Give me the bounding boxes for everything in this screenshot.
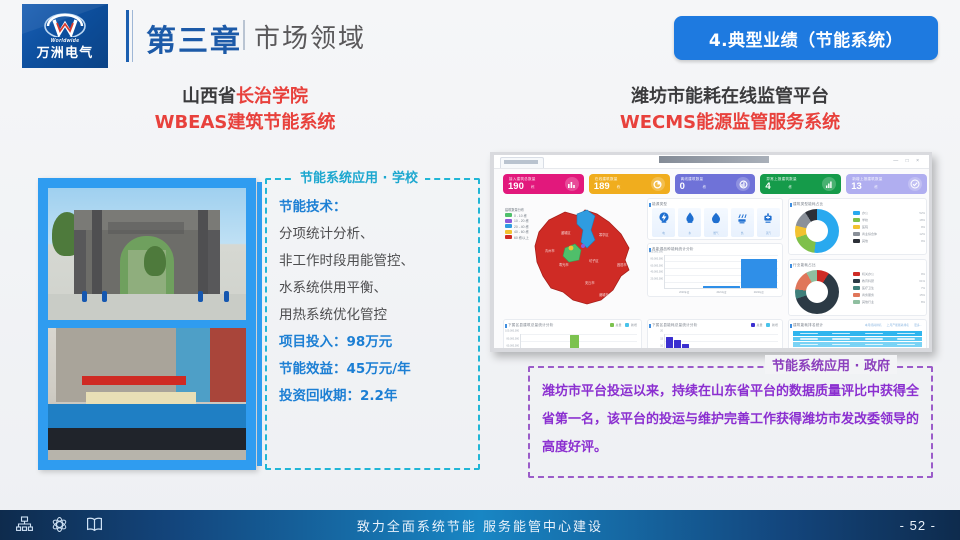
legend-value: 8%: [921, 300, 925, 304]
left-photo-frame: [38, 178, 256, 470]
panel-title: 下属区县建筑总量统计分析: [508, 323, 554, 328]
slide-root: Worldwide 万洲电气 第三章 市场领域 4.典型业绩（节能系统） 山西省…: [0, 0, 960, 540]
y-tick: 80,000,000: [506, 337, 519, 340]
energy-icon-label: 热: [731, 231, 754, 235]
y-tick: 40,000,000: [650, 271, 663, 274]
weifang-map-icon[interactable]: 潍城区 寒亭区 青州市 坊子区 昌邑市 寿光市 安丘市 诸城市: [525, 204, 637, 312]
legend-label: 教育科研: [862, 279, 917, 283]
y-tick: 60,000,000: [650, 264, 663, 267]
legend-row: 办公52%: [853, 209, 925, 216]
legend-label: 其他行业: [862, 300, 919, 304]
svg-text:安丘市: 安丘市: [585, 280, 595, 285]
legend-value: 18%: [919, 218, 925, 222]
y-tick: 15: [660, 337, 663, 340]
kpi-value: 13: [851, 181, 862, 192]
signal-icon: [822, 177, 836, 191]
kpi-card: 异常上报建筑数量 4 栋: [760, 174, 841, 194]
x-tick: 2021年度: [703, 290, 739, 294]
y-tick: 60,000,000: [506, 345, 519, 348]
section-badge-ribbon: 4.典型业绩（节能系统）: [674, 16, 938, 60]
legend-label: 办公: [862, 211, 917, 215]
kpi-unit: 栋: [788, 185, 792, 190]
page-number: - 52 -: [900, 510, 936, 540]
legend-row: 商业综合体12%: [853, 230, 925, 237]
legend-row: 其他行业8%: [853, 298, 925, 305]
panel-title: 能源类型: [652, 202, 667, 207]
dashboard-window: — □ × 接入建筑总数量 190 栋 在线建筑数量 189 栋 离线建筑数量: [494, 155, 929, 348]
kpi-card: 离线建筑数量 0 栋: [675, 174, 756, 194]
legend-value: 61%: [919, 279, 925, 283]
electricity-icon[interactable]: 电: [652, 208, 675, 237]
county-building-chart: 100,000,000 80,000,000 60,000,000 40,000…: [520, 334, 637, 348]
left-title-plain: 山西省: [182, 86, 236, 107]
legend-label: 医院: [862, 225, 919, 229]
legend-label: 机关办公: [862, 272, 919, 276]
header-divider: [126, 10, 129, 62]
svg-text:寿光市: 寿光市: [559, 262, 569, 267]
kpi-unit: 栋: [874, 185, 878, 190]
table-header-row: [793, 331, 922, 336]
svg-text:青州市: 青州市: [545, 248, 555, 253]
legend-label: 新增: [772, 323, 778, 327]
bar-series-total: [522, 333, 636, 348]
logo-latin-text: Worldwide: [51, 38, 80, 44]
ranking-table-panel: 建筑能耗排名统计 本月能耗排名 上月产能能耗排名 更多...: [788, 319, 927, 348]
legend-row: 医疗卫生7%: [853, 284, 925, 291]
legend-value: 9%: [921, 225, 925, 229]
county-building-chart-panel: 下属区县建筑总量统计分析 总量 新增 100,000,000 80,000,00…: [503, 319, 642, 348]
steam-icon[interactable]: 蒸汽: [757, 208, 780, 237]
kpi-unit: 栋: [617, 185, 621, 190]
svg-text:诸城市: 诸城市: [599, 292, 609, 297]
left-box-accent-bar: [257, 182, 262, 466]
bar-series: [666, 254, 777, 288]
y-tick: 80,000,000: [650, 257, 663, 260]
legend-row: 总量: [610, 323, 622, 327]
company-logo: Worldwide 万洲电气: [22, 4, 108, 68]
energy-icon-label: 蒸汽: [757, 231, 780, 235]
table-row[interactable]: [793, 342, 922, 347]
kpi-value: 4: [765, 181, 770, 192]
table-tools: 本月能耗排名 上月产能能耗排名 更多...: [865, 323, 922, 327]
section-badge-label: 4.典型业绩（节能系统）: [709, 26, 903, 51]
svg-text:寒亭区: 寒亭区: [599, 232, 609, 237]
legend-value: 12%: [919, 232, 925, 236]
bar-series-total: [666, 333, 777, 348]
y-tick: 20,000,000: [650, 278, 663, 281]
chapter-subtitle: 市场领域: [254, 18, 366, 55]
panel-title: 建筑类型能耗占比: [793, 202, 823, 207]
donut-legend: 办公52% 学校18% 医院9% 商业综合体12% 其他9%: [853, 209, 925, 244]
legend-row: 学校18%: [853, 216, 925, 223]
header-divider-thin: [132, 10, 133, 62]
kpi-card: 在线建筑数量 189 栋: [589, 174, 670, 194]
legend-value: 52%: [919, 211, 925, 215]
browser-address-bar[interactable]: [659, 156, 769, 163]
svg-text:潍城区: 潍城区: [561, 230, 571, 235]
energy-icon-strip: 电 水 燃气 热 蒸汽: [652, 208, 780, 237]
table-tool[interactable]: 上月产能能耗排名: [887, 323, 909, 327]
left-title-line2: WBEAS建筑节能系统: [80, 110, 410, 136]
table-row[interactable]: [793, 337, 922, 342]
x-tick: 2020年度: [666, 290, 702, 294]
photo-campus-gate: [48, 188, 246, 320]
section-badge: 4.典型业绩（节能系统）: [666, 16, 946, 60]
energy-icon-label: 水: [678, 231, 701, 235]
browser-tab[interactable]: [500, 157, 544, 168]
legend-row: 其他9%: [853, 237, 925, 244]
table-tool[interactable]: 更多...: [914, 323, 922, 327]
kpi-value: 190: [508, 181, 524, 192]
left-box-metric-payback: 投资回收期：2.2年: [279, 383, 469, 410]
right-box-legend: 节能系统应用 · 政府: [765, 355, 897, 374]
left-section-title: 山西省长治学院 WBEAS建筑节能系统: [80, 84, 410, 136]
legend-value: 15%: [919, 293, 925, 297]
x-tick-row: 2020年度 2021年度 2022年度: [666, 290, 777, 294]
legend-label: 新增: [631, 323, 637, 327]
kpi-card: 新增上报建筑数量 13 栋: [846, 174, 927, 194]
left-box-metric-savings: 节能效益：45万元/年: [279, 356, 469, 383]
legend-row: 新增: [625, 323, 637, 327]
legend-value: 9%: [921, 239, 925, 243]
ranking-table: [793, 331, 922, 348]
legend-value: 7%: [921, 286, 925, 290]
legend-row: 医院9%: [853, 223, 925, 230]
right-title-line2: WECMS能源监管服务系统: [520, 110, 940, 136]
chart-legend: 总量 新增: [751, 323, 778, 327]
left-title-accent: 长治学院: [236, 86, 308, 107]
energy-type-panel: 能源类型 电 水 燃气 热: [647, 198, 783, 240]
legend-label: 商业综合体: [862, 232, 917, 236]
legend-row: 教育科研61%: [853, 277, 925, 284]
kpi-value: 189: [594, 181, 610, 192]
gas-icon[interactable]: 燃气: [704, 208, 727, 237]
y-tick: 20: [660, 330, 663, 333]
map-legend-title: 建筑数量分布: [505, 207, 524, 212]
energy-by-year-chart-panel: 各能源品种能耗统计分析 100,000,000 80,000,000 60,00…: [647, 243, 783, 297]
left-box-legend: 节能系统应用 · 学校: [293, 167, 425, 186]
window-controls[interactable]: — □ ×: [893, 158, 922, 164]
chapter-title: 第三章: [146, 16, 242, 60]
logo-emblem-icon: [42, 11, 88, 37]
x-tick: 2022年度: [741, 290, 777, 294]
left-box-content: 节能技术： 分项统计分析、 非工作时段用能管控、 水系统供用平衡、 用热系统优化…: [279, 194, 469, 410]
building-type-donut-panel: 建筑类型能耗占比 办公52% 学校18% 医院9% 商业综合体12% 其他9%: [788, 198, 927, 255]
legend-label: 医疗卫生: [862, 286, 919, 290]
right-info-box: 节能系统应用 · 政府 潍坊市平台投运以来，持续在山东省平台的数据质量评比中获得…: [528, 366, 933, 478]
left-box-item: 非工作时段用能管控、: [279, 248, 469, 275]
chapter-separator: [243, 20, 245, 50]
slide-header: Worldwide 万洲电气 第三章 市场领域 4.典型业绩（节能系统）: [0, 0, 960, 72]
left-box-metric-investment: 项目投入：98万元: [279, 329, 469, 356]
y-tick: 100,000,000: [505, 330, 519, 333]
legend-value: 9%: [921, 272, 925, 276]
legend-label: 学校: [862, 218, 917, 222]
panel-title: 下属区县能耗总量统计分析: [652, 323, 698, 328]
left-box-head: 节能技术：: [279, 194, 469, 221]
gauge-icon: [736, 177, 750, 191]
pie-chart-icon: [651, 177, 665, 191]
left-box-item: 水系统供用平衡、: [279, 275, 469, 302]
kpi-unit: 栋: [703, 185, 707, 190]
legend-row: 机关办公9%: [853, 270, 925, 277]
kpi-row: 接入建筑总数量 190 栋 在线建筑数量 189 栋 离线建筑数量 0 栋: [503, 174, 927, 194]
industry-donut-panel: 行业能耗占比 机关办公9% 教育科研61% 医疗卫生7% 商务服务15% 其他行…: [788, 259, 927, 316]
kpi-card: 接入建筑总数量 190 栋: [503, 174, 584, 194]
dashboard-screenshot: — □ × 接入建筑总数量 190 栋 在线建筑数量 189 栋 离线建筑数量: [490, 152, 932, 352]
footer-slogan: 致力全面系统节能 服务能管中心建设: [0, 510, 960, 540]
heat-icon[interactable]: 热: [731, 208, 754, 237]
right-box-paragraph: 潍坊市平台投运以来，持续在山东省平台的数据质量评比中获得全省第一名，该平台的投运…: [542, 378, 920, 462]
energy-icon-label: 燃气: [704, 231, 727, 235]
county-energy-chart: 20 15 10 5: [664, 334, 778, 348]
energy-icon-label: 电: [652, 231, 675, 235]
panel-title: 建筑能耗排名统计: [793, 323, 823, 328]
y-tick: 100,000,000: [649, 251, 663, 254]
legend-label: 总量: [756, 323, 762, 327]
left-box-item: 用热系统优化管控: [279, 302, 469, 329]
county-energy-chart-panel: 下属区县能耗总量统计分析 总量 新增 20 15 10 5: [647, 319, 783, 348]
legend-label: 商务服务: [862, 293, 917, 297]
legend-row: 商务服务15%: [853, 291, 925, 298]
legend-label: 其他: [862, 239, 919, 243]
bar-chart-icon: [565, 177, 579, 191]
donut-chart: [795, 209, 839, 253]
kpi-value: 0: [680, 181, 685, 192]
legend-row: 新增: [766, 323, 778, 327]
legend-row: 总量: [751, 323, 763, 327]
left-box-item: 分项统计分析、: [279, 221, 469, 248]
donut-legend: 机关办公9% 教育科研61% 医疗卫生7% 商务服务15% 其他行业8%: [853, 270, 925, 305]
table-tool[interactable]: 本月能耗排名: [865, 323, 882, 327]
logo-company-name: 万洲电气: [37, 46, 94, 62]
slide-footer: 致力全面系统节能 服务能管中心建设 - 52 -: [0, 510, 960, 540]
right-section-title: 潍坊市能耗在线监管平台 WECMS能源监管服务系统: [520, 84, 940, 136]
right-title-line1: 潍坊市能耗在线监管平台: [520, 84, 940, 110]
svg-text:坊子区: 坊子区: [589, 258, 599, 263]
legend-label: 总量: [615, 323, 621, 327]
energy-by-year-chart: 100,000,000 80,000,000 60,000,000 40,000…: [664, 255, 778, 289]
chart-legend: 总量 新增: [610, 323, 637, 327]
check-icon: [908, 177, 922, 191]
donut-chart: [795, 270, 839, 314]
water-icon[interactable]: 水: [678, 208, 701, 237]
panel-title: 行业能耗占比: [793, 263, 816, 268]
left-title-line1: 山西省长治学院: [80, 84, 410, 110]
kpi-unit: 栋: [531, 185, 535, 190]
photo-ceremony: [48, 328, 246, 460]
y-tick: 10: [660, 345, 663, 348]
browser-titlebar: — □ ×: [494, 155, 929, 169]
left-info-box: 节能系统应用 · 学校 节能技术： 分项统计分析、 非工作时段用能管控、 水系统…: [265, 178, 480, 470]
map-panel: 建筑数量分布 0 - 10 栋 10 - 20 栋 20 - 40 栋 40 -…: [503, 198, 642, 315]
svg-text:昌邑市: 昌邑市: [617, 262, 627, 267]
